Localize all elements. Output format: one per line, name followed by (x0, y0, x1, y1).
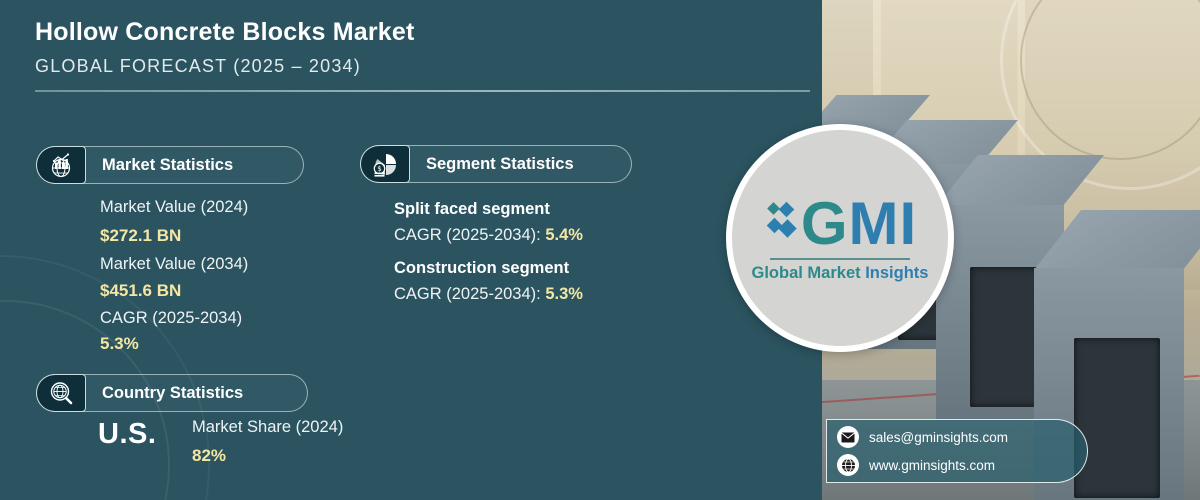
gmi-tagline-part2: Insights (865, 264, 928, 282)
svg-text:$: $ (377, 165, 381, 173)
country-name: U.S. (98, 418, 156, 451)
globe-magnifier-icon (36, 374, 86, 412)
pie-chart-money-icon: $ (360, 145, 410, 183)
envelope-icon (837, 426, 859, 448)
country-share-label: Market Share (2024) (192, 418, 343, 437)
country-statistics-label: Country Statistics (86, 384, 263, 403)
gmi-logo-underline (770, 258, 910, 260)
diamond-icon (765, 196, 799, 252)
header-divider (35, 90, 810, 92)
infographic-canvas: Hollow Concrete Blocks Market GLOBAL FOR… (0, 0, 1200, 500)
market-statistics-label: Market Statistics (86, 156, 253, 175)
market-cagr-value: 5.3% (100, 334, 139, 354)
segment-1-metric-value: 5.4% (545, 226, 583, 244)
segment-1-metric-label: CAGR (2025-2034): (394, 226, 545, 244)
gmi-letter-m: M (849, 194, 898, 254)
segment-1-name: Split faced segment (394, 200, 550, 219)
segment-2-name: Construction segment (394, 259, 569, 278)
market-value-2024-value: $272.1 BN (100, 226, 181, 246)
contact-website: www.gminsights.com (869, 458, 995, 473)
market-value-2034-value: $451.6 BN (100, 281, 181, 301)
country-share-value: 82% (192, 446, 226, 466)
segment-2-metric: CAGR (2025-2034): 5.3% (394, 285, 583, 304)
gmi-logo-mark: G M I (765, 194, 915, 254)
segment-statistics-header: $ Segment Statistics (360, 145, 632, 183)
globe-icon (837, 454, 859, 476)
segment-2-metric-value: 5.3% (545, 285, 583, 303)
globe-bar-chart-icon (36, 146, 86, 184)
page-subtitle: GLOBAL FORECAST (2025 – 2034) (35, 56, 361, 77)
gmi-letter-g: G (801, 194, 847, 254)
contact-website-row[interactable]: www.gminsights.com (837, 454, 1087, 476)
segment-1-metric: CAGR (2025-2034): 5.4% (394, 226, 583, 245)
content-panel: Hollow Concrete Blocks Market GLOBAL FOR… (0, 0, 822, 500)
market-value-2024-label: Market Value (2024) (100, 198, 248, 217)
market-cagr-label: CAGR (2025-2034) (100, 309, 242, 328)
market-value-2034-label: Market Value (2034) (100, 255, 248, 274)
gmi-tagline: Global Market Insights (752, 264, 929, 283)
contact-email-row[interactable]: sales@gminsights.com (837, 426, 1087, 448)
segment-statistics-label: Segment Statistics (410, 155, 594, 174)
gmi-letter-i: I (899, 194, 915, 254)
country-statistics-header: Country Statistics (36, 374, 308, 412)
page-title: Hollow Concrete Blocks Market (35, 18, 415, 47)
contact-email: sales@gminsights.com (869, 430, 1008, 445)
market-statistics-header: Market Statistics (36, 146, 304, 184)
contact-panel: sales@gminsights.com www.gminsights.com (826, 419, 1088, 483)
gmi-tagline-part1: Global Market (752, 264, 866, 282)
gmi-logo: G M I Global Market Insights (726, 124, 954, 352)
segment-2-metric-label: CAGR (2025-2034): (394, 285, 545, 303)
